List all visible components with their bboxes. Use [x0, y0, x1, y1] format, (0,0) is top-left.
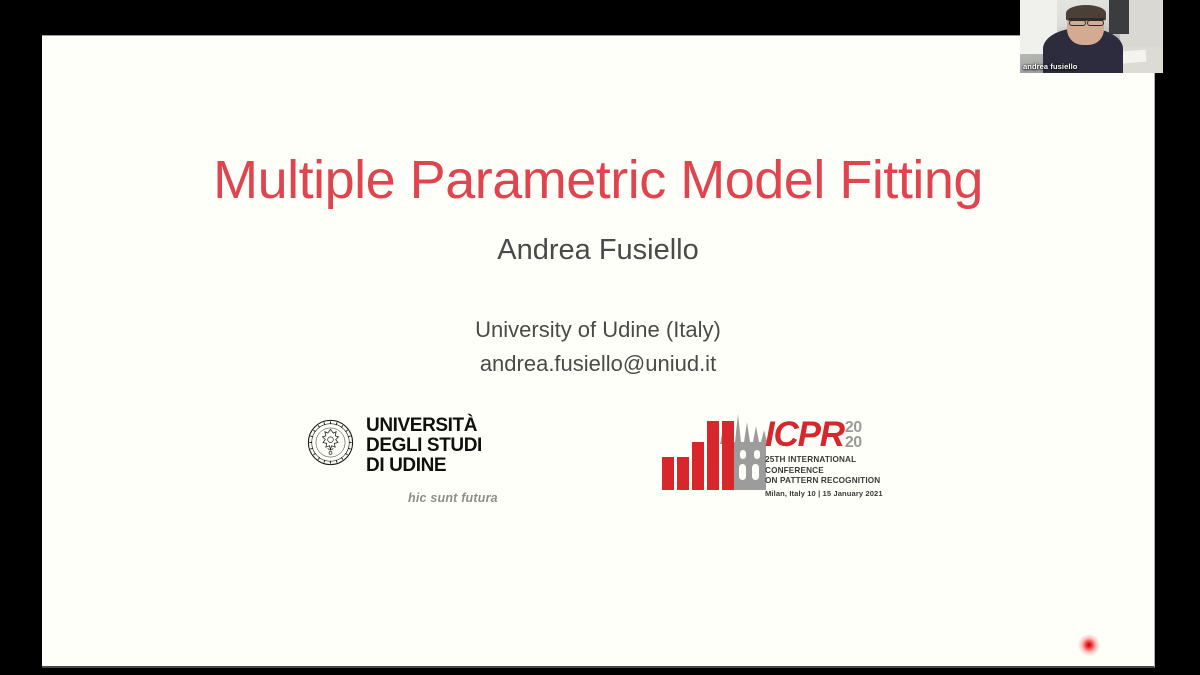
affiliation-email: andrea.fusiello@uniud.it [42, 347, 1154, 381]
laser-pointer-dot [1078, 634, 1100, 656]
icpr-wordmark: ICPR 20 20 25th INTERNATIONAL CONFERENCE… [765, 418, 890, 498]
icpr-conference-line-2: ON PATTERN RECOGNITION [765, 476, 890, 486]
glasses-icon [1069, 18, 1105, 25]
icpr-conference-subtitle: 25th INTERNATIONAL CONFERENCE ON PATTERN… [765, 455, 890, 486]
slide-surface: Multiple Parametric Model Fitting Andrea… [42, 35, 1155, 668]
icpr-bars-and-duomo-icon [660, 412, 770, 490]
university-of-udine-seal [307, 416, 354, 471]
icpr-year: 20 20 [845, 420, 862, 450]
university-of-udine-wordmark: UNIVERSITÀ DEGLI STUDI DI UDINE [366, 416, 482, 476]
uniud-wordmark-line-3: DI UDINE [366, 456, 482, 476]
page-title: Multiple Parametric Model Fitting [42, 149, 1154, 211]
webcam-dark-panel [1109, 0, 1129, 34]
university-of-udine-logo: UNIVERSITÀ DEGLI STUDI DI UDINE [307, 416, 482, 476]
uniud-wordmark-line-2: DEGLI STUDI [366, 436, 482, 456]
icpr-2020-logo: ICPR 20 20 25th INTERNATIONAL CONFERENCE… [660, 412, 890, 504]
icpr-year-top: 20 [845, 420, 862, 435]
affiliation-block: University of Udine (Italy) andrea.fusie… [42, 313, 1154, 381]
icpr-year-bottom: 20 [845, 435, 862, 450]
icpr-acronym: ICPR [765, 418, 844, 451]
presentation-stage: Multiple Parametric Model Fitting Andrea… [0, 0, 1200, 675]
logo-row: UNIVERSITÀ DEGLI STUDI DI UDINE hic sunt… [42, 408, 1154, 518]
icpr-conference-line-1: 25th INTERNATIONAL CONFERENCE [765, 455, 890, 476]
uniud-tagline: hic sunt futura [408, 491, 498, 505]
webcam-video-overlay[interactable]: andrea fusiello [1020, 0, 1163, 73]
uniud-wordmark-line-1: UNIVERSITÀ [366, 416, 482, 436]
affiliation-institution: University of Udine (Italy) [42, 313, 1154, 347]
icpr-place-and-date: Milan, Italy 10 | 15 January 2021 [765, 489, 890, 498]
webcam-participant-name: andrea fusiello [1023, 62, 1077, 71]
author-name: Andrea Fusiello [42, 234, 1154, 267]
